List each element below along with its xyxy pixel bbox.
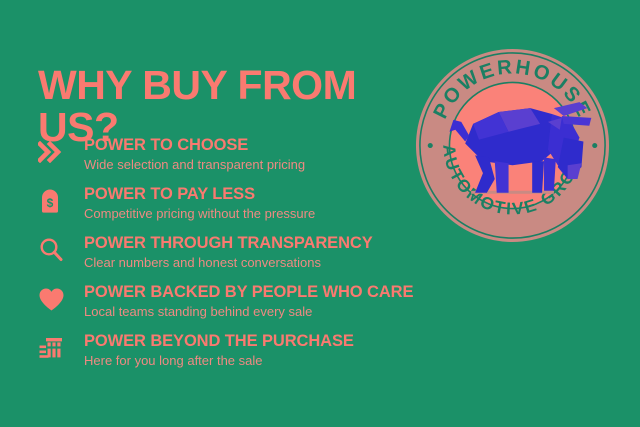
price-tag-dollar-icon: $ bbox=[38, 185, 72, 216]
benefit-subtitle: Here for you long after the sale bbox=[84, 353, 488, 370]
benefit-subtitle: Clear numbers and honest conversations bbox=[84, 255, 488, 272]
magnifier-icon bbox=[38, 234, 72, 265]
benefit-subtitle: Local teams standing behind every sale bbox=[84, 304, 488, 321]
svg-text:$: $ bbox=[47, 196, 54, 210]
why-buy-from-us-poster: WHY BUY FROM US? POWER TO CHOOSE Wide se… bbox=[0, 0, 640, 427]
benefit-item: POWER BACKED BY PEOPLE WHO CARE Local te… bbox=[38, 283, 488, 323]
double-chevron-right-icon bbox=[38, 136, 72, 167]
powerhouse-automotive-group-logo: POWERHOUSE AUTOMOTIVE GROUP bbox=[414, 47, 611, 244]
benefit-text: POWER BACKED BY PEOPLE WHO CARE Local te… bbox=[72, 283, 488, 321]
benefit-title: POWER BEYOND THE PURCHASE bbox=[84, 332, 488, 351]
storefront-icon bbox=[38, 332, 72, 363]
benefit-title: POWER BACKED BY PEOPLE WHO CARE bbox=[84, 283, 488, 302]
benefit-item: POWER BEYOND THE PURCHASE Here for you l… bbox=[38, 332, 488, 372]
benefit-text: POWER BEYOND THE PURCHASE Here for you l… bbox=[72, 332, 488, 370]
heart-icon bbox=[38, 283, 72, 314]
